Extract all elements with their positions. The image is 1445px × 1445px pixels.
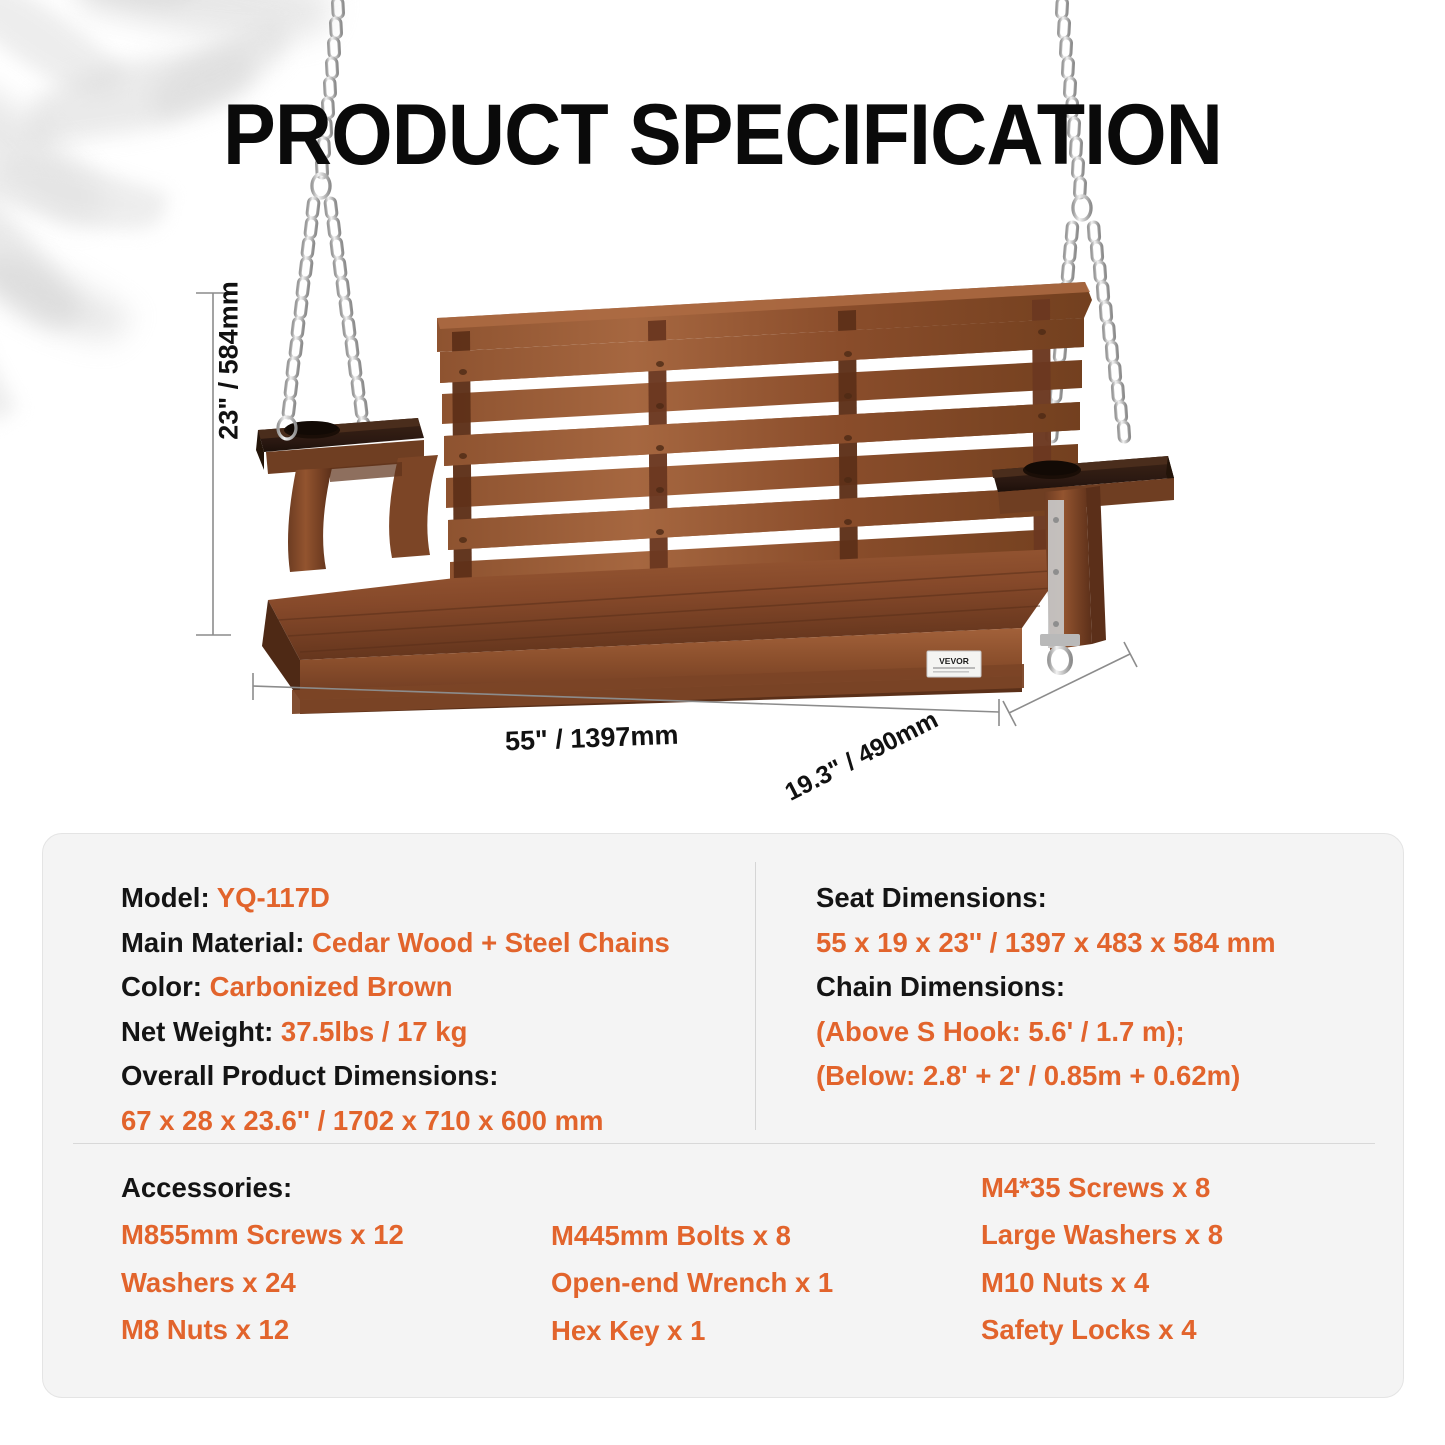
dimension-label-height: 23" / 584mm — [214, 256, 245, 466]
spec-column-left: Model: YQ-117D Main Material: Cedar Wood… — [43, 876, 738, 1139]
spec-row-chain-below: (Below: 2.8' + 2' / 0.85m + 0.62m) — [816, 1054, 1398, 1099]
spec-column-right: Seat Dimensions: 55 x 19 x 23'' / 1397 x… — [738, 876, 1398, 1139]
spec-value: Cedar Wood + Steel Chains — [312, 927, 670, 958]
porch-swing-bench: VEVOR — [256, 282, 1174, 714]
accessory-item: Safety Locks x 4 — [981, 1306, 1361, 1353]
brand-label: VEVOR — [927, 651, 981, 677]
spec-row-overall-label: Overall Product Dimensions: — [121, 1054, 738, 1099]
spec-label: Net Weight: — [121, 1016, 273, 1047]
svg-text:VEVOR: VEVOR — [939, 656, 969, 666]
chain-left-front — [283, 197, 320, 418]
spec-value: Carbonized Brown — [210, 971, 453, 1002]
chain-left-rear — [325, 197, 371, 438]
accessory-item: M445mm Bolts x 8 — [551, 1212, 981, 1259]
page-title: PRODUCT SPECIFICATION — [58, 86, 1387, 185]
spec-sheet-page: PRODUCT SPECIFICATION — [0, 0, 1445, 1445]
spec-row-overall-value: 67 x 28 x 23.6'' / 1702 x 710 x 600 mm — [121, 1099, 738, 1144]
armrest-left — [256, 418, 438, 572]
spec-row-color: Color: Carbonized Brown — [121, 965, 738, 1010]
spec-row-material: Main Material: Cedar Wood + Steel Chains — [121, 921, 738, 966]
accessory-item: Open-end Wrench x 1 — [551, 1259, 981, 1306]
spec-label: Main Material: — [121, 927, 304, 958]
spec-row-seat-label: Seat Dimensions: — [816, 876, 1398, 921]
accessories-column-3: M4*35 Screws x 8 Large Washers x 8 M10 N… — [981, 1164, 1361, 1354]
spec-row-weight: Net Weight: 37.5lbs / 17 kg — [121, 1010, 738, 1055]
spec-label: Color: — [121, 971, 202, 1002]
accessory-item: Washers x 24 — [121, 1259, 551, 1306]
accessories-heading: Accessories: — [121, 1164, 551, 1211]
accessory-item: M4*35 Screws x 8 — [981, 1164, 1361, 1211]
spec-label: Overall Product Dimensions: — [121, 1060, 498, 1091]
spec-label: Chain Dimensions: — [816, 971, 1065, 1002]
accessory-item: Hex Key x 1 — [551, 1307, 981, 1354]
spec-row-model: Model: YQ-117D — [121, 876, 738, 921]
accessory-item: M855mm Screws x 12 — [121, 1211, 551, 1258]
spec-label: Seat Dimensions: — [816, 882, 1047, 913]
specification-card: Model: YQ-117D Main Material: Cedar Wood… — [42, 833, 1404, 1398]
spec-label: Model: — [121, 882, 210, 913]
backrest-slats-front — [440, 318, 1084, 550]
accessories-section: Accessories: M855mm Screws x 12 Washers … — [43, 1164, 1403, 1354]
spec-value: 37.5lbs / 17 kg — [281, 1016, 468, 1047]
spec-value: YQ-117D — [217, 882, 330, 913]
spec-row-chain-label: Chain Dimensions: — [816, 965, 1398, 1010]
accessory-item: M10 Nuts x 4 — [981, 1259, 1361, 1306]
accessories-column-2: M445mm Bolts x 8 Open-end Wrench x 1 Hex… — [551, 1164, 981, 1354]
spec-row-seat-value: 55 x 19 x 23'' / 1397 x 483 x 584 mm — [816, 921, 1398, 966]
chain-right-rear — [1088, 222, 1130, 443]
accessory-item: Large Washers x 8 — [981, 1211, 1361, 1258]
accessory-item: M8 Nuts x 12 — [121, 1306, 551, 1353]
spec-row-chain-above: (Above S Hook: 5.6' / 1.7 m); — [816, 1010, 1398, 1055]
accessories-column-1: Accessories: M855mm Screws x 12 Washers … — [121, 1164, 551, 1354]
